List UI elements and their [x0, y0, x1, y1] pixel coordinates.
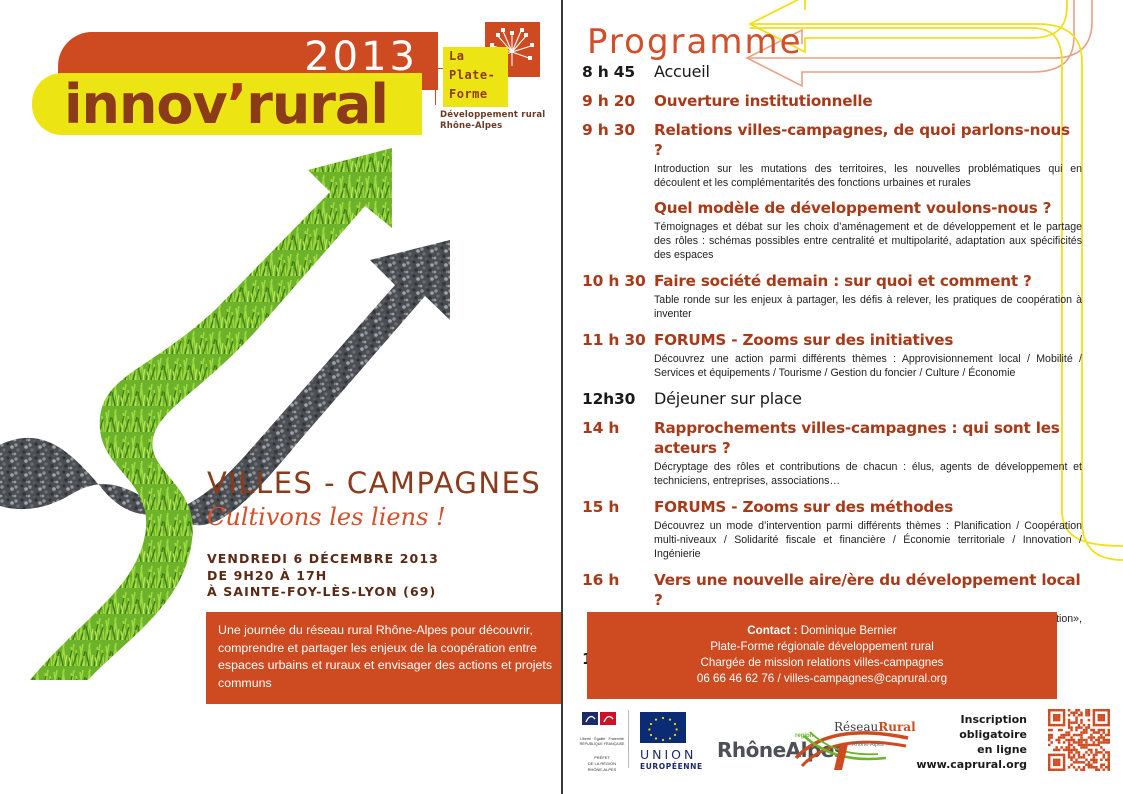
programme-item-body: Déjeuner sur place — [654, 389, 1082, 409]
reseau-word1: Réseau — [834, 720, 878, 734]
programme-item-body: Faire société demain : sur quoi et comme… — [654, 271, 1082, 321]
programme-item-gap — [582, 264, 1082, 271]
programme-item: 15 hFORUMS - Zooms sur des méthodesDécou… — [582, 497, 1082, 561]
event-subtitle: Cultivons les liens ! — [207, 503, 446, 531]
programme-item-heading: Faire société demain : sur quoi et comme… — [654, 271, 1082, 291]
programme-item-gap — [582, 323, 1082, 330]
qr-code-icon[interactable] — [1048, 709, 1110, 771]
programme-item-time: 8 h 45 — [582, 62, 654, 82]
programme-item-body: Ouverture institutionnelle — [654, 91, 1082, 111]
programme-item-gap — [582, 84, 1082, 91]
programme-item: 8 h 45Accueil — [582, 62, 1082, 82]
republique-text: Liberté · Égalité · Fraternité RÉPUBLIQU… — [576, 737, 628, 747]
programme-item-time: 10 h 30 — [582, 271, 654, 291]
poster-root: 2013 innov’rural — [0, 0, 1123, 794]
programme-item-body: Accueil — [654, 62, 1082, 82]
programme-item-heading: Accueil — [654, 62, 1082, 82]
event-title: VILLES - CAMPAGNES — [207, 466, 541, 500]
programme-item-description: Découvrez un mode d’intervention parmi d… — [654, 519, 1082, 561]
prefet-text: PRÉFET DE LA RÉGION RHÔNE-ALPES — [576, 755, 628, 773]
left-column: 2013 innov’rural — [0, 0, 562, 794]
programme-item-time: 11 h 30 — [582, 330, 654, 350]
inscription-line3: en ligne — [916, 742, 1027, 757]
programme-item-gap — [582, 411, 1082, 418]
event-hours: DE 9H20 À 17H — [207, 568, 439, 585]
reseau-rural-sub: Rhône-Alpes — [852, 742, 884, 748]
contact-line1: Contact : Dominique Bernier — [587, 623, 1057, 639]
programme-item-time: 9 h 30 — [582, 120, 654, 140]
union-label: UNION — [640, 747, 703, 762]
plateforme-subtitle: Développement rural Rhône-Alpes — [440, 110, 545, 132]
programme-item-time: 16 h — [582, 570, 654, 590]
event-datetime: VENDREDI 6 DÉCEMBRE 2013 DE 9H20 À 17H À… — [207, 551, 439, 601]
programme-item: 14 hRapprochements villes-campagnes : qu… — [582, 418, 1082, 488]
reseau-rural-text: RéseauRural — [834, 720, 916, 734]
inscription-label: Inscription obligatoire en ligne www.cap… — [916, 712, 1027, 772]
programme-item-description: Table ronde sur les enjeux à partager, l… — [654, 293, 1082, 321]
plateforme-line1: La — [443, 47, 508, 66]
programme-item-gap — [582, 490, 1082, 497]
programme-item-body: FORUMS - Zooms sur des méthodesDécouvrez… — [654, 497, 1082, 561]
event-location: À SAINTE-FOY-LÈS-LYON (69) — [207, 584, 439, 601]
programme-item-gap — [582, 382, 1082, 389]
programme-item-time: 14 h — [582, 418, 654, 438]
programme-subitem: Quel modèle de développement voulons-nou… — [654, 198, 1082, 262]
programme-item-gap — [582, 113, 1082, 120]
inscription-line2: obligatoire — [916, 727, 1027, 742]
programme-item-description: Découvrez une action parmi différents th… — [654, 352, 1082, 380]
plateforme-line3: Forme — [443, 85, 508, 104]
prefet-line3: RHÔNE-ALPES — [576, 767, 628, 773]
innovrural-logo: 2013 innov’rural — [18, 18, 438, 128]
programme-item-heading: FORUMS - Zooms sur des initiatives — [654, 330, 1082, 350]
event-date: VENDREDI 6 DÉCEMBRE 2013 — [207, 551, 439, 568]
prefecture-logo: Liberté · Égalité · Fraternité RÉPUBLIQU… — [576, 710, 629, 768]
programme-subitem-description: Témoignages et débat sur les choix d’amé… — [654, 220, 1082, 262]
programme-item-time: 12h30 — [582, 389, 654, 409]
plateforme-sub-line2: Rhône-Alpes — [440, 121, 545, 132]
programme-item-heading: Vers une nouvelle aire/ère du développem… — [654, 570, 1082, 610]
contact-line3: Chargée de mission relations villes-camp… — [587, 655, 1057, 671]
contact-name: Dominique Bernier — [801, 624, 897, 637]
programme-item-heading: Ouverture institutionnelle — [654, 91, 1082, 111]
contact-box: Contact : Dominique Bernier Plate-Forme … — [587, 612, 1057, 699]
programme-item-gap — [582, 563, 1082, 570]
programme-item-heading: Relations villes-campagnes, de quoi parl… — [654, 120, 1082, 160]
eu-stars-icon — [640, 712, 686, 743]
programme-item-time: 15 h — [582, 497, 654, 517]
programme-item-body: FORUMS - Zooms sur des initiativesDécouv… — [654, 330, 1082, 380]
programme-list: 8 h 45Accueil9 h 20Ouverture institution… — [582, 62, 1082, 678]
europeenne-label: EUROPÉENNE — [640, 762, 703, 771]
programme-subitem-heading: Quel modèle de développement voulons-nou… — [654, 198, 1082, 218]
programme-item-description: Décryptage des rôles et contributions de… — [654, 460, 1082, 488]
european-union-logo: UNION EUROPÉENNE — [640, 712, 703, 771]
page-title: Programme — [587, 22, 803, 62]
programme-item: 9 h 30Relations villes-campagnes, de quo… — [582, 120, 1082, 262]
programme-item-time: 9 h 20 — [582, 91, 654, 111]
programme-item: 12h30Déjeuner sur place — [582, 389, 1082, 409]
programme-item-heading: Rapprochements villes-campagnes : qui so… — [654, 418, 1082, 458]
inscription-line1: Inscription — [916, 712, 1027, 727]
republique-line2: RÉPUBLIQUE FRANÇAISE — [576, 742, 628, 747]
inscription-url: www.caprural.org — [916, 757, 1027, 772]
programme-item-description: Introduction sur les mutations des terri… — [654, 162, 1082, 190]
reseau-word2: Rural — [878, 720, 915, 734]
eu-flag-icon — [640, 712, 686, 743]
programme-item-heading: Déjeuner sur place — [654, 389, 1082, 409]
programme-item: 10 h 30Faire société demain : sur quoi e… — [582, 271, 1082, 321]
right-column: Programme 8 h 45Accueil9 h 20Ouverture i… — [562, 0, 1123, 794]
footer-logos: Liberté · Égalité · Fraternité RÉPUBLIQU… — [562, 700, 1123, 794]
reseau-rural-logo: RéseauRural Rhône-Alpes — [790, 714, 915, 772]
contact-line2: Plate-Forme régionale développement rura… — [587, 639, 1057, 655]
contact-line4: 06 66 46 62 76 / villes-campagnes@caprur… — [587, 671, 1057, 687]
programme-item: 11 h 30FORUMS - Zooms sur des initiative… — [582, 330, 1082, 380]
contact-label: Contact : — [747, 624, 797, 637]
marianne-icon — [576, 710, 626, 732]
plateforme-logo: La Plate- Forme Développement rural Rhôn… — [443, 22, 553, 127]
event-intro-box: Une journée du réseau rural Rhône-Alpes … — [206, 612, 562, 704]
plateforme-line2: Plate- — [443, 66, 508, 85]
programme-item-body: Relations villes-campagnes, de quoi parl… — [654, 120, 1082, 262]
programme-item-heading: FORUMS - Zooms sur des méthodes — [654, 497, 1082, 517]
programme-item-body: Rapprochements villes-campagnes : qui so… — [654, 418, 1082, 488]
programme-item: 9 h 20Ouverture institutionnelle — [582, 91, 1082, 111]
plateforme-sub-line1: Développement rural — [440, 110, 545, 121]
plateforme-yellow-block: La Plate- Forme — [443, 47, 508, 107]
